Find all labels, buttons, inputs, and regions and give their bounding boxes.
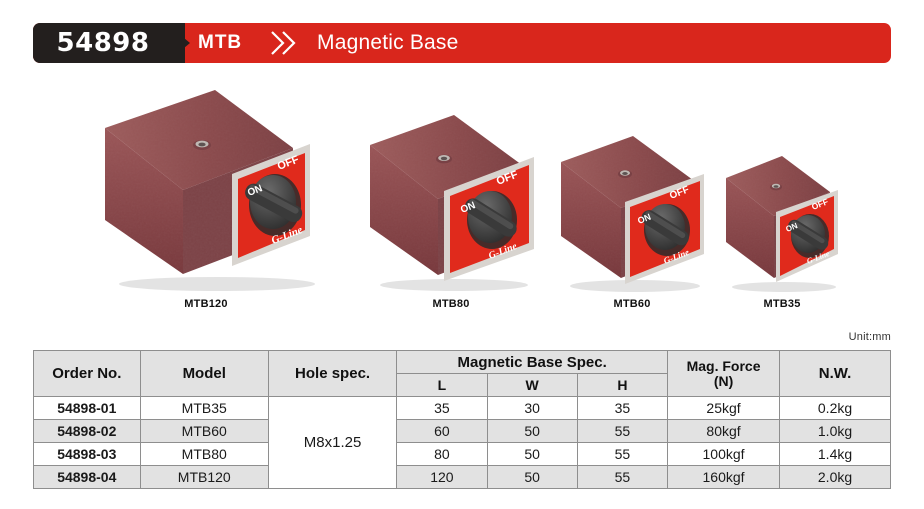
- table-row: 54898-02 MTB60 60 50 55 80kgf 1.0kg: [34, 420, 891, 443]
- cell-mag-force: 25kgf: [668, 397, 780, 420]
- table-header-row-1: Order No. Model Hole spec. Magnetic Base…: [34, 351, 891, 374]
- cell-mag-force: 80kgf: [668, 420, 780, 443]
- cell-length: 35: [397, 397, 487, 420]
- cell-nw: 2.0kg: [780, 466, 891, 489]
- header-height: H: [577, 374, 667, 397]
- cell-hole-spec: M8x1.25: [268, 397, 396, 489]
- cell-order-no: 54898-02: [34, 420, 141, 443]
- header-order-no: Order No.: [34, 351, 141, 397]
- unit-note: Unit:mm: [849, 331, 891, 343]
- cell-nw: 0.2kg: [780, 397, 891, 420]
- cell-length: 120: [397, 466, 487, 489]
- magnetic-base-illustration: ON OFF G-Line: [97, 78, 315, 293]
- header-mag-force: Mag. Force (N): [668, 351, 780, 397]
- magnetic-base-illustration: ON OFF G-Line: [362, 103, 540, 293]
- cell-width: 50: [487, 420, 577, 443]
- cell-nw: 1.4kg: [780, 443, 891, 466]
- table-row: 54898-04 MTB120 120 50 55 160kgf 2.0kg: [34, 466, 891, 489]
- cell-order-no: 54898-01: [34, 397, 141, 420]
- cell-height: 55: [577, 420, 667, 443]
- product-series-label: MTB: [198, 23, 242, 63]
- cell-width: 50: [487, 443, 577, 466]
- header-model: Model: [140, 351, 268, 397]
- chevron-right-icon-2: [282, 31, 296, 55]
- cell-length: 60: [397, 420, 487, 443]
- product-caption-mtb80: MTB80: [362, 298, 540, 310]
- specification-table: Order No. Model Hole spec. Magnetic Base…: [33, 350, 891, 489]
- product-image-mtb35: ON OFF G-Line: [718, 148, 846, 293]
- product-caption-mtb35: MTB35: [718, 298, 846, 310]
- product-caption-mtb60: MTB60: [553, 298, 711, 310]
- product-code: 54898: [33, 23, 173, 63]
- product-image-mtb60: ON OFF G-Line: [553, 126, 711, 293]
- product-image-mtb120: ON OFF G-Line: [97, 78, 315, 293]
- magnetic-base-illustration: ON OFF G-Line: [553, 126, 711, 293]
- cell-mag-force: 100kgf: [668, 443, 780, 466]
- cell-order-no: 54898-04: [34, 466, 141, 489]
- product-header-banner: 54898 MTB Magnetic Base: [33, 23, 891, 63]
- header-hole-spec: Hole spec.: [268, 351, 396, 397]
- cell-height: 55: [577, 466, 667, 489]
- cell-height: 55: [577, 443, 667, 466]
- header-width: W: [487, 374, 577, 397]
- cell-model: MTB60: [140, 420, 268, 443]
- page-title: Magnetic Base: [317, 23, 459, 63]
- cell-height: 35: [577, 397, 667, 420]
- magnetic-base-illustration: ON OFF G-Line: [718, 148, 846, 293]
- product-image-mtb80: ON OFF G-Line: [362, 103, 540, 293]
- header-length: L: [397, 374, 487, 397]
- cell-model: MTB80: [140, 443, 268, 466]
- cell-order-no: 54898-03: [34, 443, 141, 466]
- product-image-gallery: ON OFF G-Line MTB120: [0, 70, 924, 320]
- cell-model: MTB120: [140, 466, 268, 489]
- cell-length: 80: [397, 443, 487, 466]
- header-nw: N.W.: [780, 351, 891, 397]
- cell-width: 30: [487, 397, 577, 420]
- table-row: 54898-01 MTB35 M8x1.25 35 30 35 25kgf 0.…: [34, 397, 891, 420]
- cell-width: 50: [487, 466, 577, 489]
- cell-nw: 1.0kg: [780, 420, 891, 443]
- cell-model: MTB35: [140, 397, 268, 420]
- table-row: 54898-03 MTB80 80 50 55 100kgf 1.4kg: [34, 443, 891, 466]
- header-mag-force-line1: Mag. Force: [668, 359, 779, 374]
- product-caption-mtb120: MTB120: [97, 298, 315, 310]
- header-magnetic-base-spec: Magnetic Base Spec.: [397, 351, 668, 374]
- cell-mag-force: 160kgf: [668, 466, 780, 489]
- header-mag-force-line2: (N): [668, 374, 779, 389]
